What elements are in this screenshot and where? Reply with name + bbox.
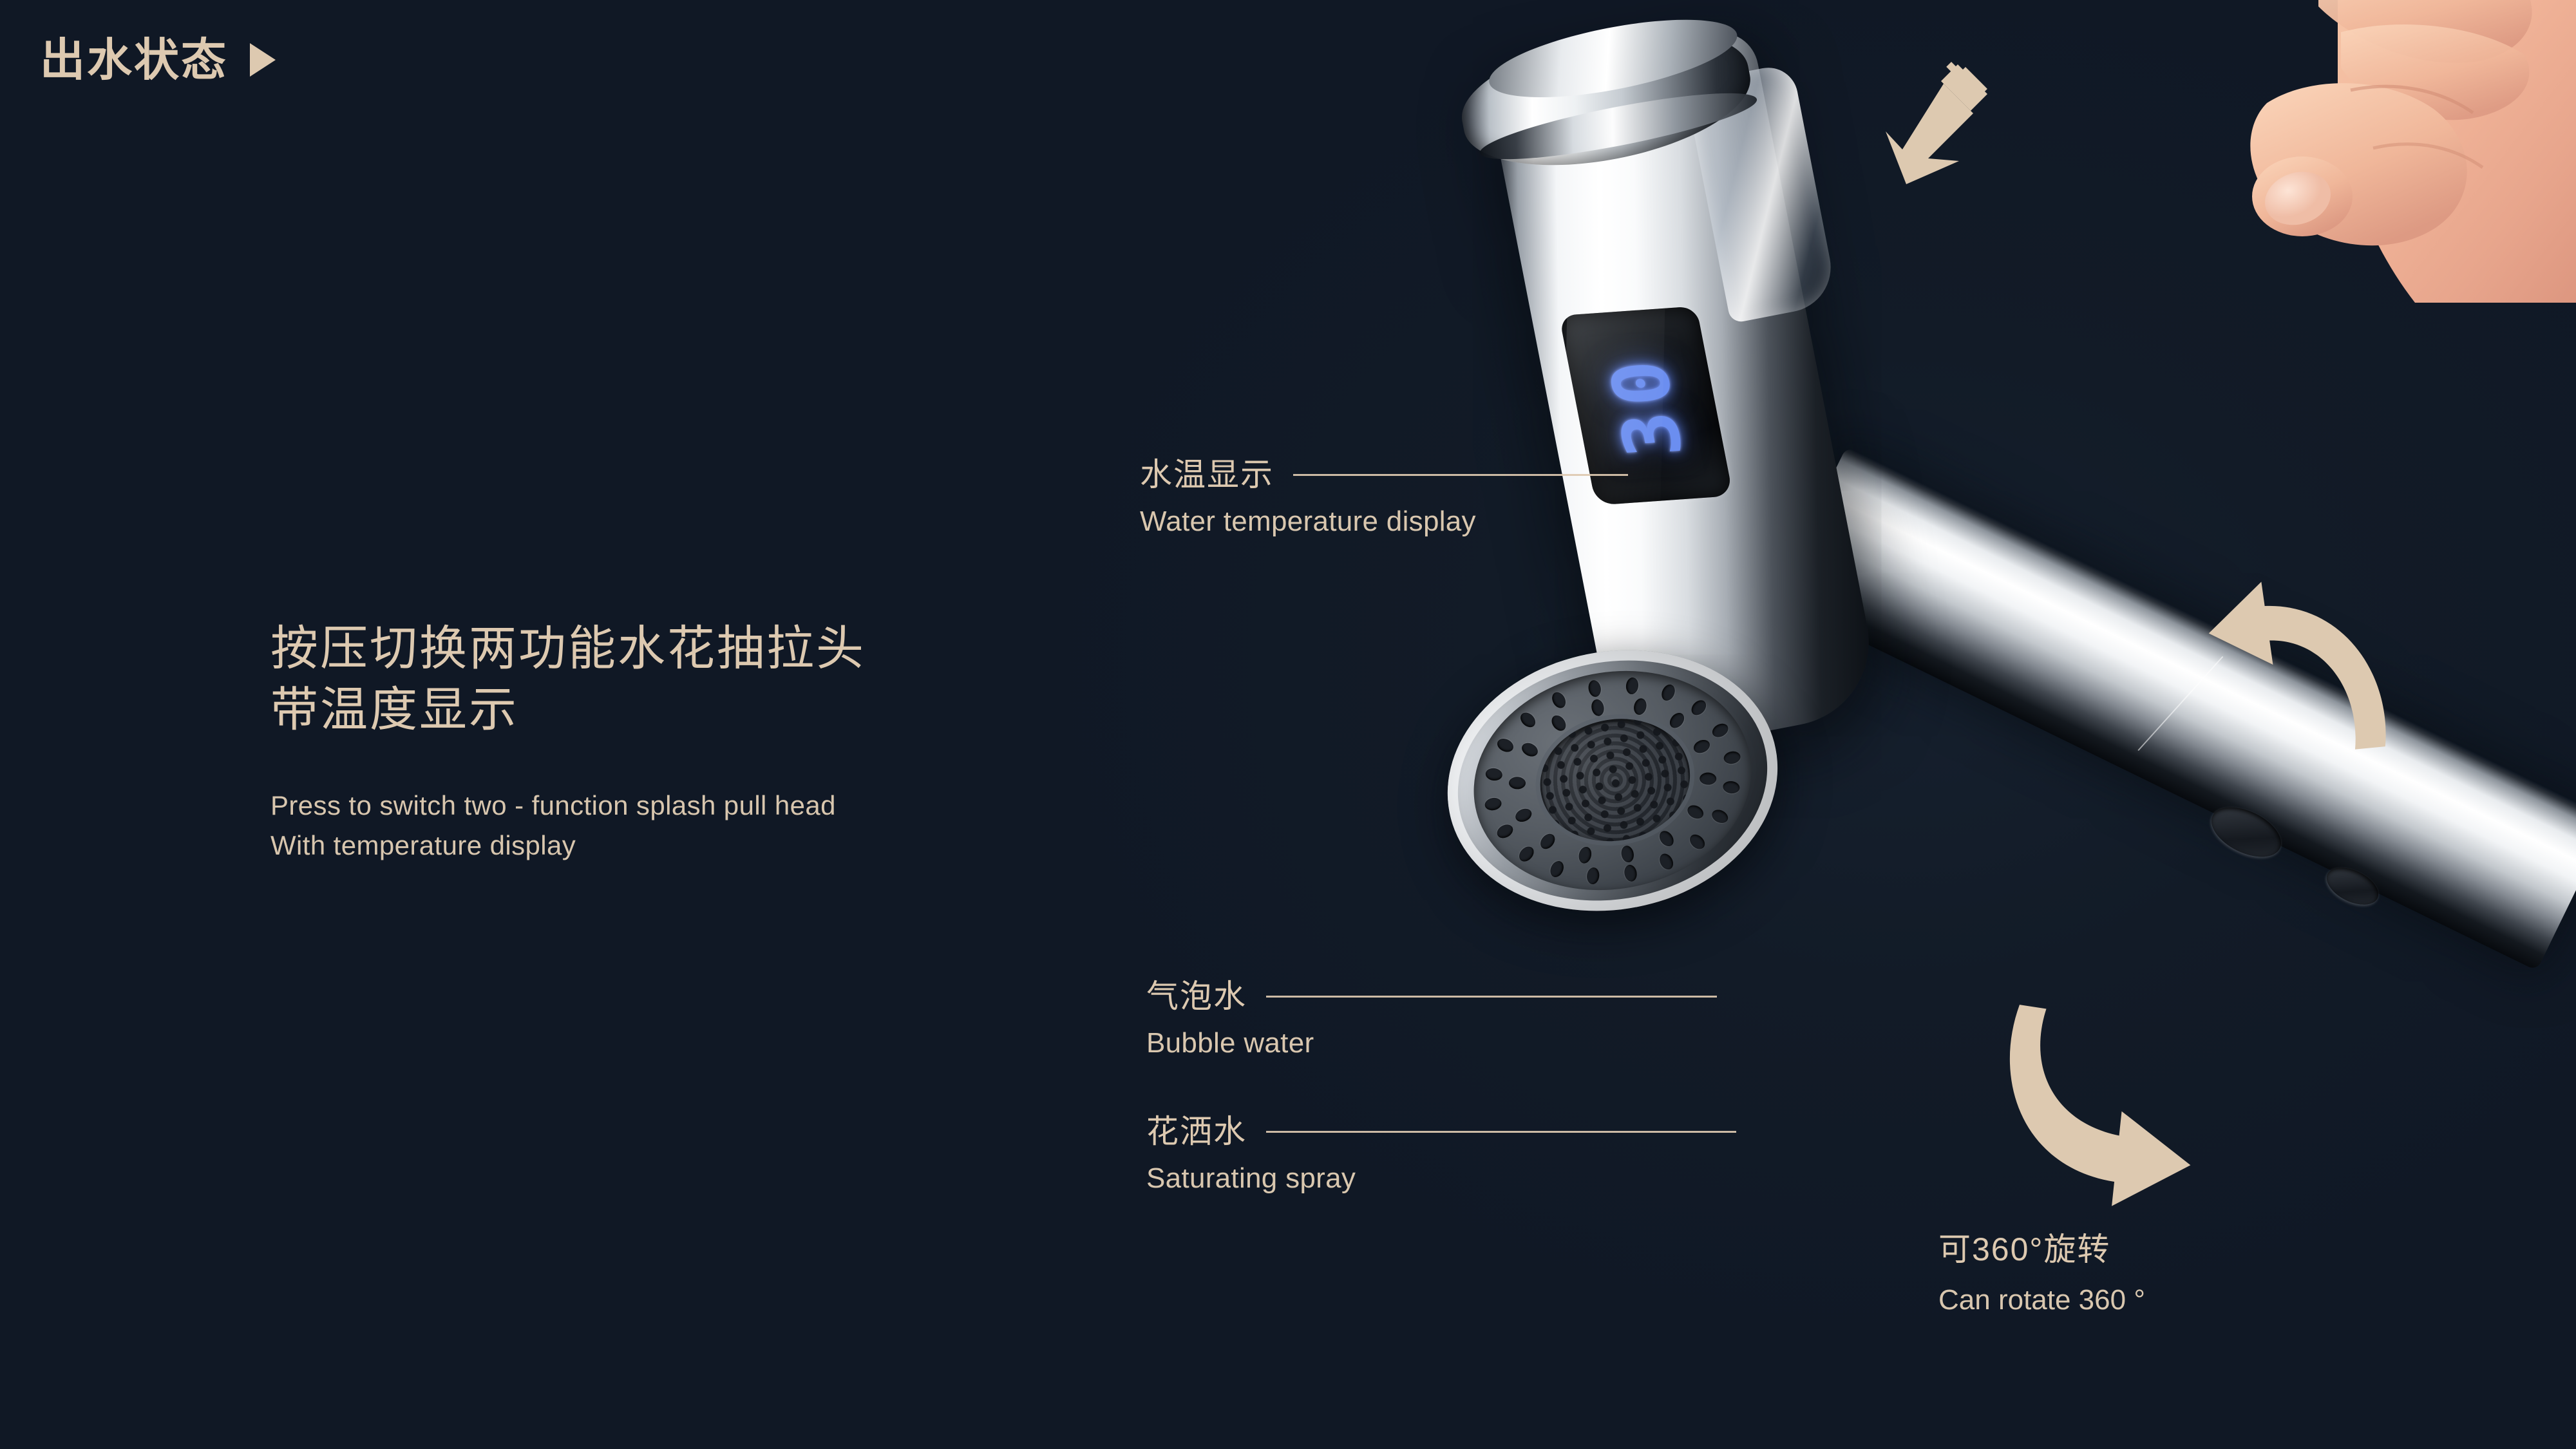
play-triangle-icon — [250, 43, 276, 77]
callout-en-label: Can rotate 360 ° — [1938, 1284, 2145, 1316]
headline-en-line2: With temperature display — [270, 826, 1108, 865]
page-header: 出水状态 — [40, 37, 276, 82]
callout-cn-label: 花洒水 — [1146, 1114, 1247, 1150]
rotate-clockwise-arrow-icon — [1984, 995, 2235, 1207]
callout-cn-label: 气泡水 — [1146, 979, 1247, 1014]
callout-en-label: Bubble water — [1146, 1027, 1717, 1059]
poster-canvas: 出水状态 按压切换两功能水花抽拉头 带温度显示 Press to switch … — [0, 0, 2576, 1449]
callout-leader-line — [1266, 996, 1717, 998]
headline-cn-line1: 按压切换两功能水花抽拉头 — [270, 618, 1108, 679]
rotate-counterclockwise-arrow-icon — [2177, 567, 2389, 766]
callout-cn-label: 水温显示 — [1140, 457, 1274, 493]
faucet-spout-arm — [1773, 446, 2576, 971]
page-title: 出水状态 — [40, 37, 228, 82]
callout-bubble-water: 气泡水 Bubble water — [1146, 979, 1717, 1059]
callout-en-label: Water temperature display — [1140, 506, 1628, 538]
callout-leader-line — [1266, 1131, 1736, 1133]
callout-en-label: Saturating spray — [1146, 1162, 1736, 1195]
callout-rotate-360: 可360°旋转 Can rotate 360 ° — [1938, 1224, 2145, 1316]
callout-water-temperature-display: 水温显示 Water temperature display — [1140, 457, 1628, 538]
callout-saturating-spray: 花洒水 Saturating spray — [1146, 1114, 1736, 1195]
headline-cn-line2: 带温度显示 — [270, 679, 1108, 741]
press-down-arrow-icon — [1861, 58, 2003, 187]
finger-pressing-hand — [2222, 0, 2576, 303]
callout-leader-line — [1293, 474, 1628, 476]
headline-en-line1: Press to switch two - function splash pu… — [270, 786, 1108, 825]
callout-cn-label: 可360°旋转 — [1938, 1224, 2145, 1270]
headline-block: 按压切换两功能水花抽拉头 带温度显示 Press to switch two -… — [270, 618, 1108, 865]
